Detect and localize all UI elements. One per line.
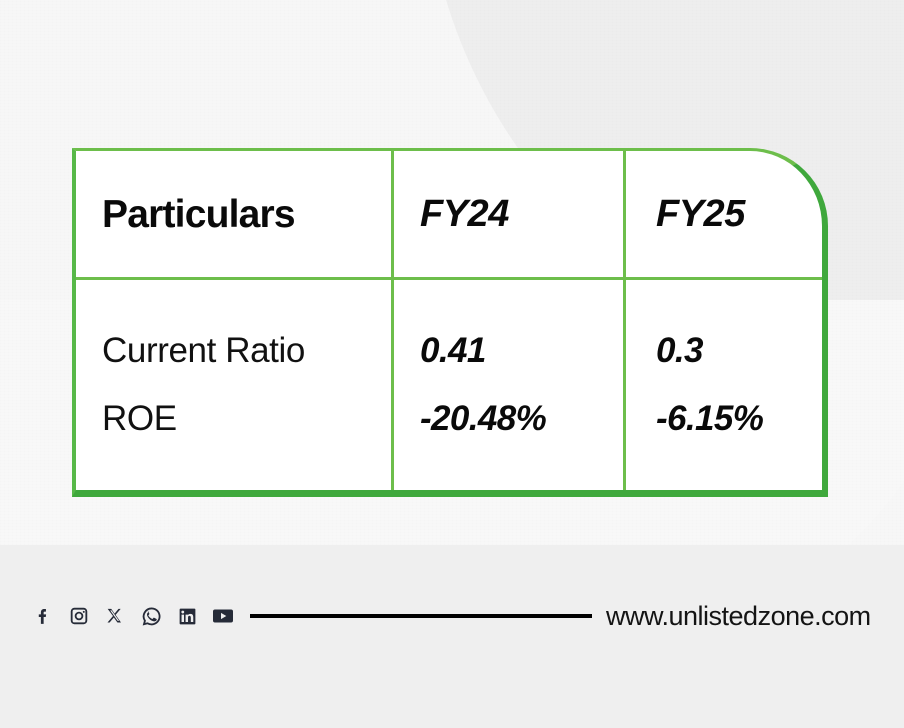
table-header-row: Particulars FY24 FY25 xyxy=(76,151,822,280)
row-label-current-ratio: Current Ratio xyxy=(102,317,391,385)
body-cell-fy25-values: 0.3 -6.15% xyxy=(626,280,822,490)
header-cell-particulars: Particulars xyxy=(76,151,394,277)
header-label-particulars: Particulars xyxy=(102,195,391,234)
header-label-fy24: FY24 xyxy=(420,195,623,233)
value-roe-fy25: -6.15% xyxy=(656,385,822,453)
table-body-row: Current Ratio ROE 0.41 -20.48% 0.3 -6.15… xyxy=(76,280,822,490)
facebook-icon[interactable] xyxy=(30,603,56,629)
financial-ratio-table: Particulars FY24 FY25 Current Ratio ROE … xyxy=(72,148,828,497)
row-label-roe: ROE xyxy=(102,385,391,453)
header-cell-fy25: FY25 xyxy=(626,151,822,277)
linkedin-icon[interactable] xyxy=(174,603,200,629)
value-current-ratio-fy25: 0.3 xyxy=(656,317,822,385)
youtube-icon[interactable] xyxy=(210,603,236,629)
value-current-ratio-fy24: 0.41 xyxy=(420,317,623,385)
x-twitter-icon[interactable] xyxy=(102,603,128,629)
whatsapp-icon[interactable] xyxy=(138,603,164,629)
footer-content: www.unlistedzone.com xyxy=(30,597,874,635)
footer-divider-line xyxy=(250,614,592,618)
body-cell-fy24-values: 0.41 -20.48% xyxy=(394,280,626,490)
slide-canvas: Particulars FY24 FY25 Current Ratio ROE … xyxy=(0,0,904,728)
website-url[interactable]: www.unlistedzone.com xyxy=(606,601,871,632)
header-label-fy25: FY25 xyxy=(656,195,822,233)
instagram-icon[interactable] xyxy=(66,603,92,629)
header-cell-fy24: FY24 xyxy=(394,151,626,277)
value-roe-fy24: -20.48% xyxy=(420,385,623,453)
footer-band: www.unlistedzone.com xyxy=(0,545,904,728)
social-links xyxy=(30,603,236,629)
body-cell-labels: Current Ratio ROE xyxy=(76,280,394,490)
